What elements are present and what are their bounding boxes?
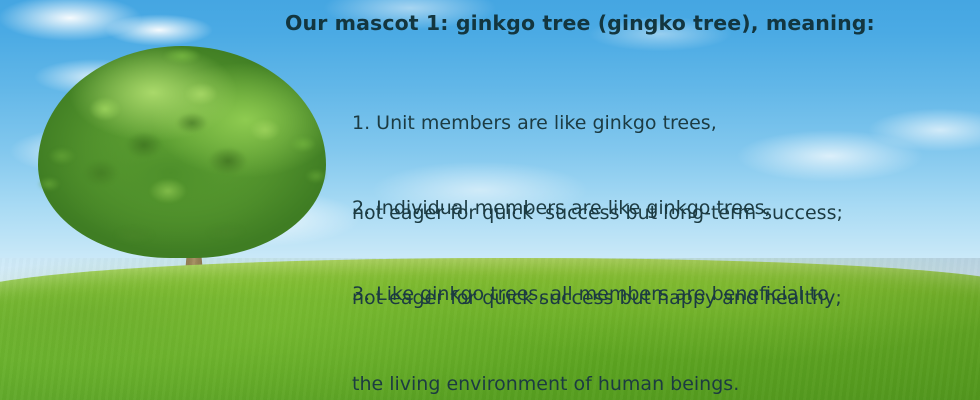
mascot-banner: Our mascot 1: ginkgo tree (gingko tree),…	[0, 0, 980, 400]
text-line: the living environment of human beings.	[352, 369, 829, 399]
text-line: 3. Like ginkgo trees, all members are be…	[352, 279, 829, 309]
mascot-meaning-item-3: 3. Like ginkgo trees, all members are be…	[352, 219, 829, 400]
page-title: Our mascot 1: ginkgo tree (gingko tree),…	[285, 11, 875, 35]
